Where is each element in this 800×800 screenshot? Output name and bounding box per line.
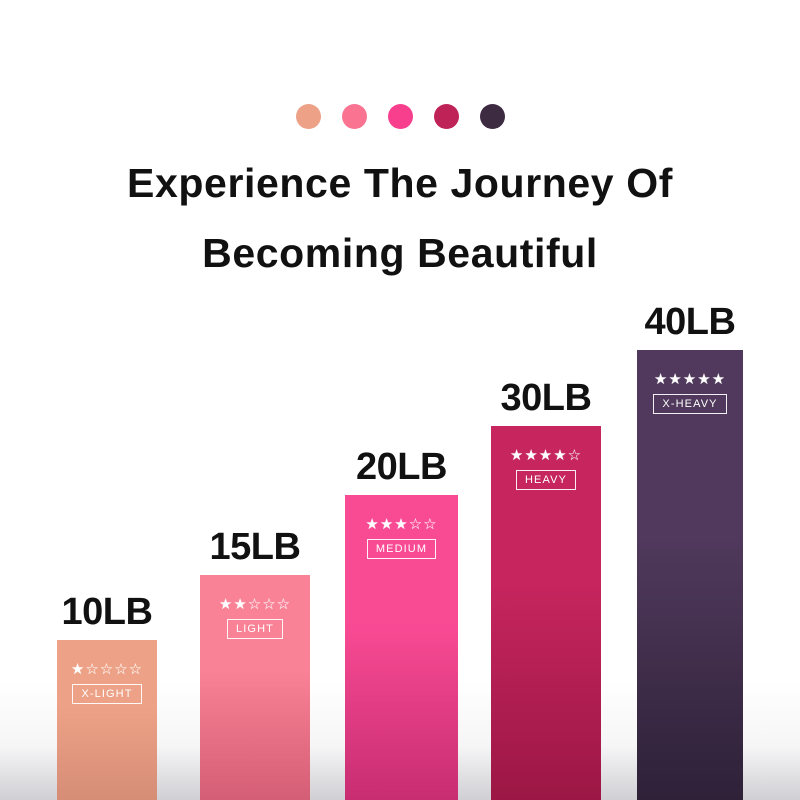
swatch-x-heavy-dot <box>480 104 505 129</box>
bar-group-10lb[interactable]: 10LB★☆☆☆☆X-LIGHT <box>57 640 157 800</box>
level-badge-x-heavy: X-HEAVY <box>653 394 726 414</box>
star-rating-icon: ★★☆☆☆ <box>219 597 291 612</box>
bar-group-15lb[interactable]: 15LB★★☆☆☆LIGHT <box>200 575 310 800</box>
star-rating-icon: ★★★★☆ <box>510 448 582 463</box>
headline-line-2: Becoming Beautiful <box>0 218 800 288</box>
bar-label-30lb: 30LB <box>501 377 592 420</box>
bar-15lb: ★★☆☆☆LIGHT <box>200 575 310 800</box>
star-rating-icon: ★☆☆☆☆ <box>71 662 143 677</box>
swatch-medium-dot <box>388 104 413 129</box>
level-badge-x-light: X-LIGHT <box>72 684 141 704</box>
level-badge-light: LIGHT <box>227 619 283 639</box>
bar-group-40lb[interactable]: 40LB★★★★★X-HEAVY <box>637 350 743 800</box>
bar-content: ★★★★☆HEAVY <box>491 448 601 490</box>
resistance-band-bar-chart: 10LB★☆☆☆☆X-LIGHT15LB★★☆☆☆LIGHT20LB★★★☆☆M… <box>0 280 800 800</box>
bar-label-20lb: 20LB <box>356 446 447 489</box>
level-badge-medium: MEDIUM <box>367 539 436 559</box>
color-swatch-row <box>0 104 800 129</box>
bar-content: ★★★☆☆MEDIUM <box>345 517 458 559</box>
star-rating-icon: ★★★☆☆ <box>365 517 437 532</box>
bar-content: ★★☆☆☆LIGHT <box>200 597 310 639</box>
page-title: Experience The Journey Of Becoming Beaut… <box>0 148 800 288</box>
headline-line-1: Experience The Journey Of <box>0 148 800 218</box>
swatch-x-light-dot <box>296 104 321 129</box>
bar-label-40lb: 40LB <box>645 301 736 344</box>
swatch-light-dot <box>342 104 367 129</box>
bar-content: ★☆☆☆☆X-LIGHT <box>57 662 157 704</box>
swatch-heavy-dot <box>434 104 459 129</box>
bar-40lb: ★★★★★X-HEAVY <box>637 350 743 800</box>
bar-group-30lb[interactable]: 30LB★★★★☆HEAVY <box>491 426 601 800</box>
bar-30lb: ★★★★☆HEAVY <box>491 426 601 800</box>
bar-label-10lb: 10LB <box>62 591 153 634</box>
star-rating-icon: ★★★★★ <box>654 372 726 387</box>
bar-content: ★★★★★X-HEAVY <box>637 372 743 414</box>
bar-label-15lb: 15LB <box>210 526 301 569</box>
infographic-canvas: Experience The Journey Of Becoming Beaut… <box>0 0 800 800</box>
bar-20lb: ★★★☆☆MEDIUM <box>345 495 458 800</box>
bar-10lb: ★☆☆☆☆X-LIGHT <box>57 640 157 800</box>
level-badge-heavy: HEAVY <box>516 470 576 490</box>
bar-group-20lb[interactable]: 20LB★★★☆☆MEDIUM <box>345 495 458 800</box>
